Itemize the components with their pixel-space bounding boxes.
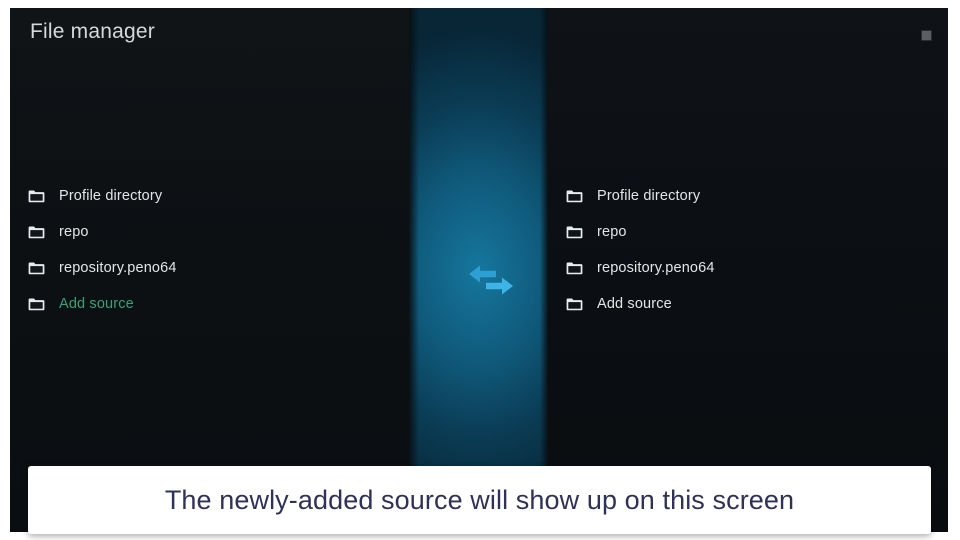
- list-item[interactable]: Profile directory: [566, 178, 936, 214]
- list-item-add-source[interactable]: Add source: [28, 286, 398, 322]
- caption-card: The newly-added source will show up on t…: [28, 466, 931, 534]
- list-item-label: repo: [59, 225, 89, 240]
- list-item[interactable]: repo: [566, 214, 936, 250]
- square-indicator-icon: [921, 30, 932, 41]
- folder-icon: [566, 190, 583, 203]
- list-item[interactable]: Profile directory: [28, 178, 398, 214]
- list-item-label: Profile directory: [59, 189, 162, 204]
- folder-icon: [28, 298, 45, 311]
- right-file-pane: Profile directory repo: [566, 178, 936, 322]
- page-title: File manager: [30, 20, 155, 44]
- list-item-label: repository.peno64: [59, 261, 177, 276]
- window-header: File manager: [10, 8, 948, 66]
- folder-icon: [28, 226, 45, 239]
- list-item[interactable]: repository.peno64: [28, 250, 398, 286]
- folder-icon: [566, 226, 583, 239]
- list-item-add-source[interactable]: Add source: [566, 286, 936, 322]
- list-item[interactable]: repo: [28, 214, 398, 250]
- left-file-pane: Profile directory repo: [28, 178, 398, 322]
- folder-icon: [28, 262, 45, 275]
- list-item-label: Add source: [597, 297, 672, 312]
- list-item-label: Add source: [59, 297, 134, 312]
- screenshot-root: File manager Profile directory: [0, 0, 960, 540]
- folder-icon: [566, 298, 583, 311]
- folder-icon: [566, 262, 583, 275]
- swap-left-right-arrows-icon: [465, 260, 517, 300]
- list-item-label: Profile directory: [597, 189, 700, 204]
- list-item-label: repository.peno64: [597, 261, 715, 276]
- list-item[interactable]: repository.peno64: [566, 250, 936, 286]
- folder-icon: [28, 190, 45, 203]
- list-item-label: repo: [597, 225, 627, 240]
- file-manager-window: File manager Profile directory: [10, 8, 948, 532]
- caption-text: The newly-added source will show up on t…: [165, 485, 794, 516]
